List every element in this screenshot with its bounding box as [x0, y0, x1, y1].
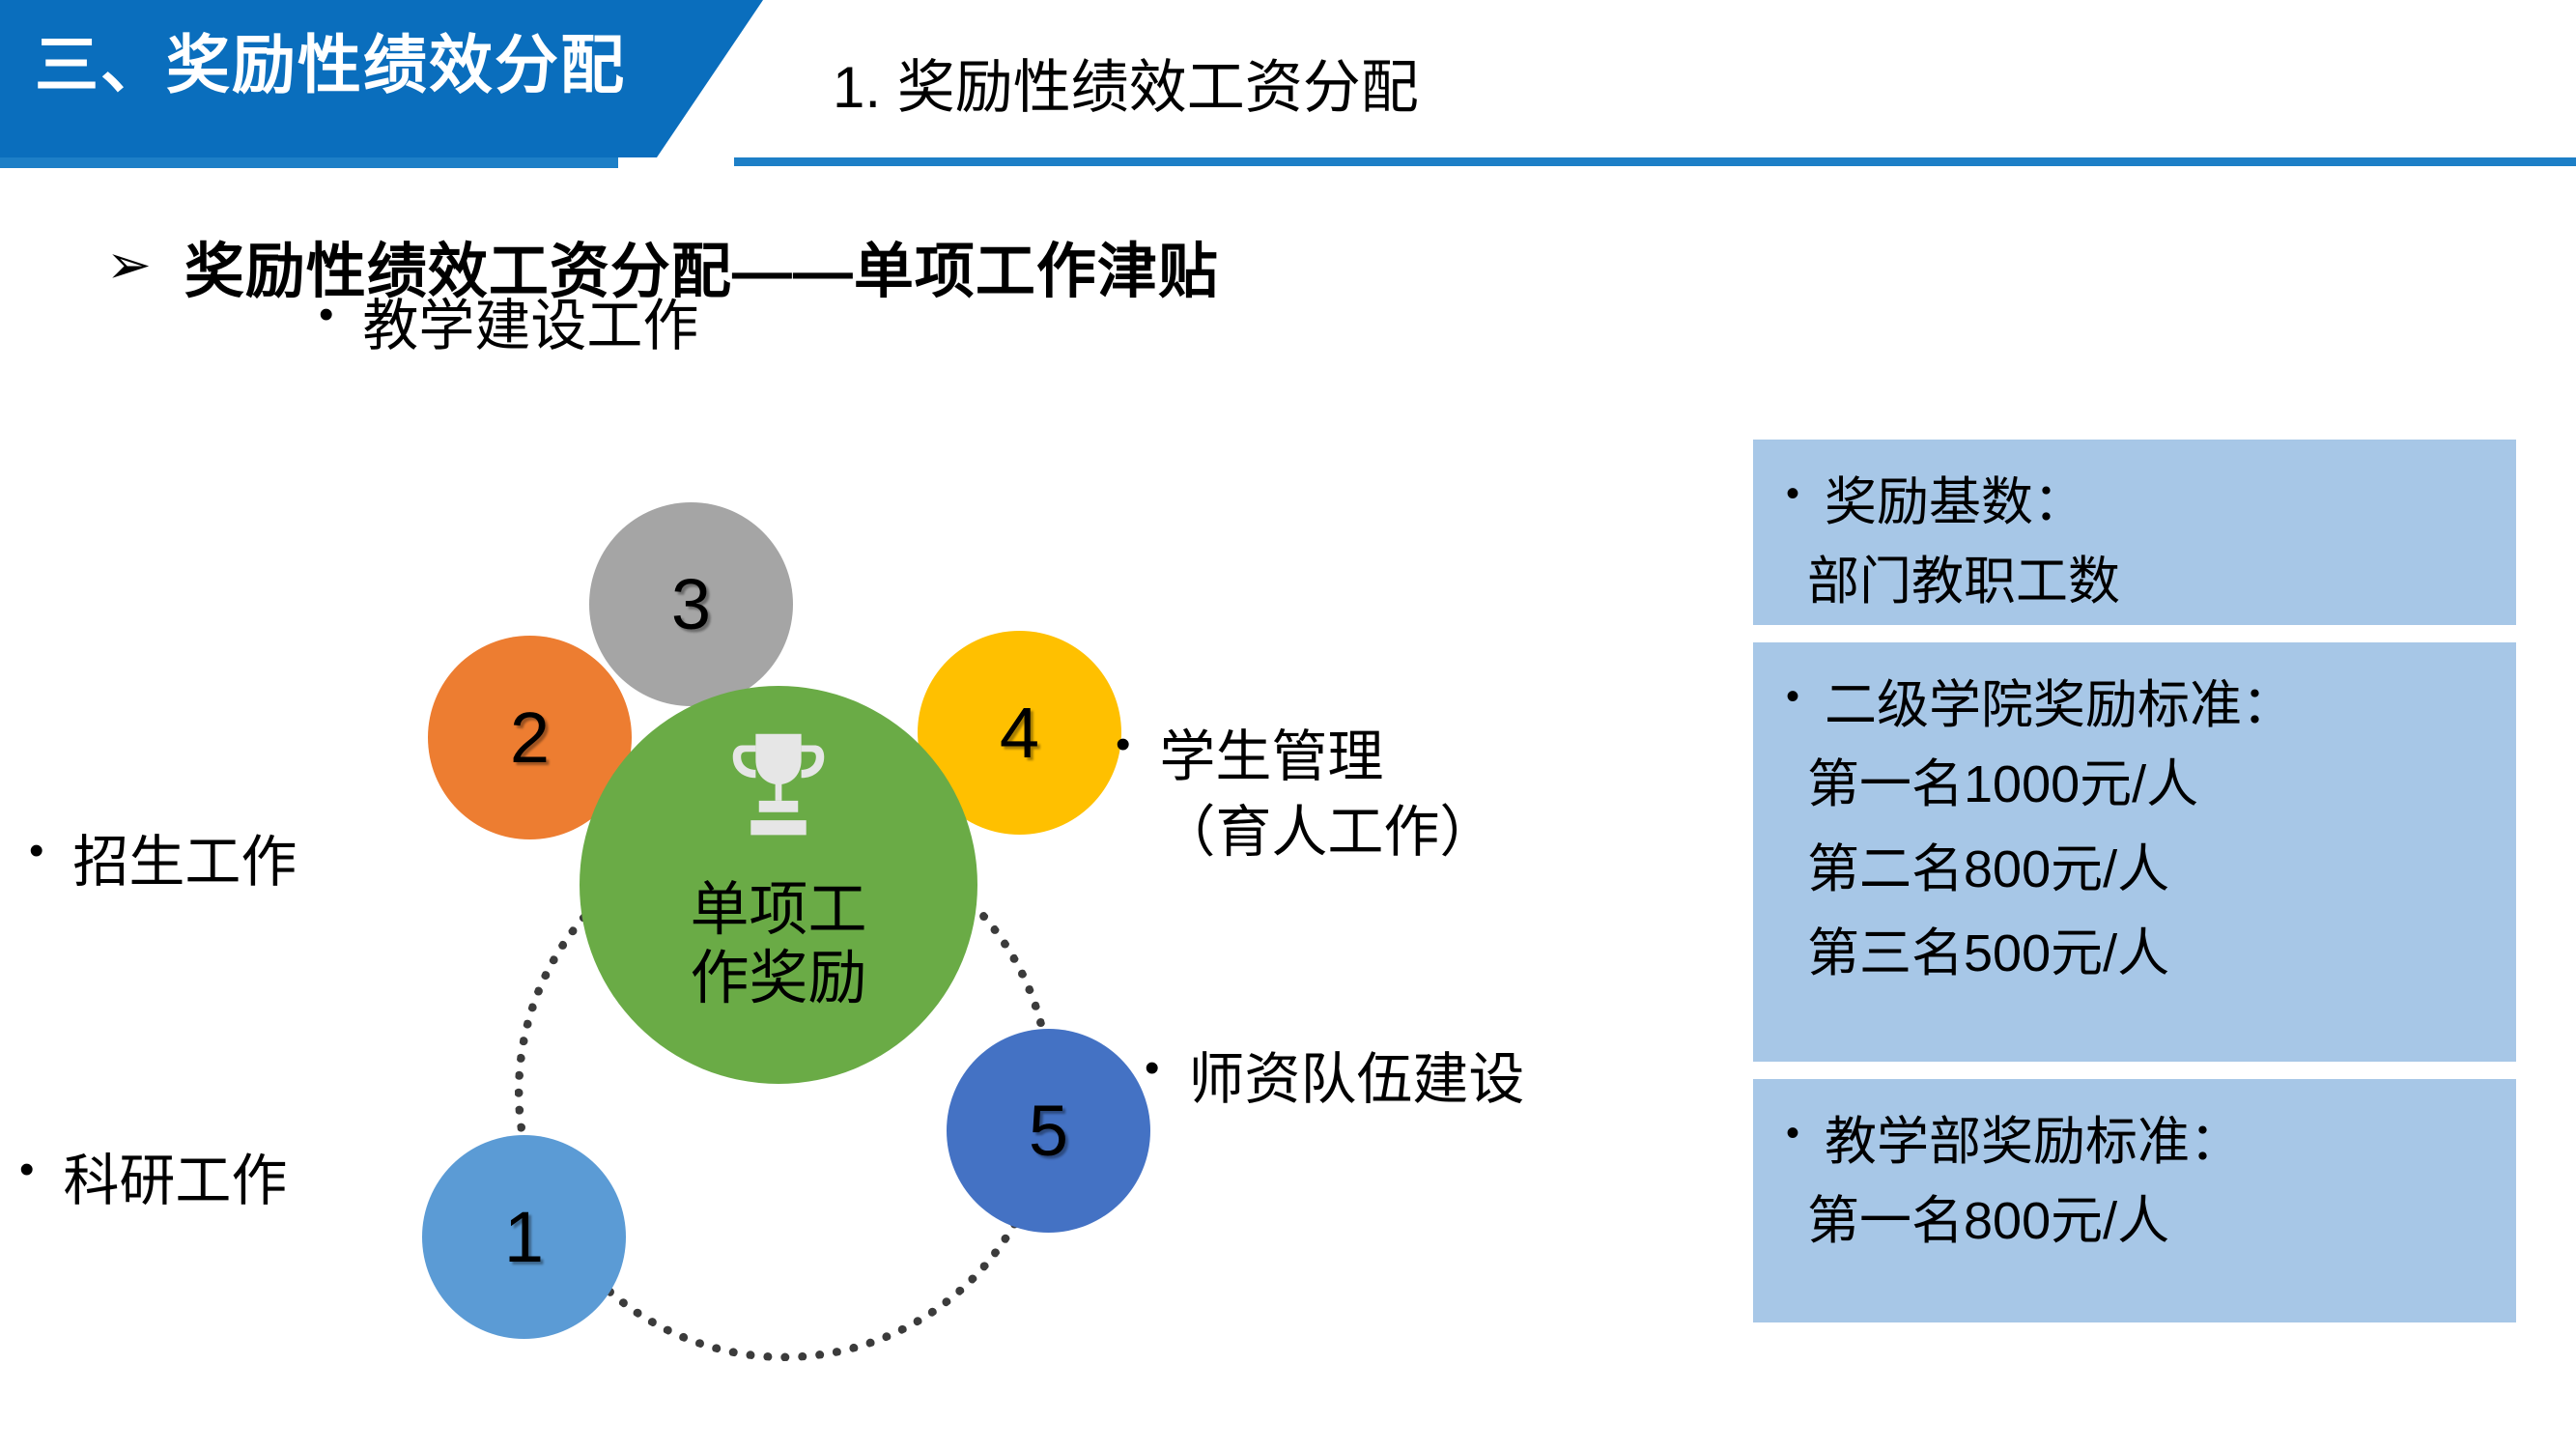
node-number: 2	[510, 697, 550, 779]
node-number: 3	[671, 563, 711, 645]
box-line: 第一名800元/人	[1753, 1180, 2516, 1264]
bullet-icon: •	[1116, 720, 1130, 770]
bullet-icon: •	[1786, 668, 1799, 725]
node-number: 5	[1029, 1090, 1068, 1172]
arrow-bullet-icon: ➢	[106, 239, 152, 293]
single-item-bonus-diagram: 3 2 4 1 5 单项工 作奖励 • 教学建设工作	[0, 386, 1729, 1352]
center-label-line1: 单项工	[580, 875, 977, 944]
diagram-label-student-management: • 学生管理 （育人工作）	[1116, 720, 1495, 871]
box-line: 第三名500元/人	[1753, 912, 2516, 996]
label-text-line2: （育人工作）	[1159, 795, 1495, 870]
college-reward-standard-box: • 二级学院奖励标准： 第一名1000元/人 第二名800元/人 第三名500元…	[1753, 642, 2516, 1062]
page-header: 三、奖励性绩效分配 1. 奖励性绩效工资分配	[0, 0, 2576, 184]
trophy-icon	[726, 730, 831, 839]
box-heading-row: • 二级学院奖励标准：	[1753, 668, 2516, 743]
box-heading: 二级学院奖励标准：	[1825, 668, 2294, 743]
box-heading: 教学部奖励标准：	[1825, 1104, 2242, 1180]
node-number: 4	[1000, 692, 1039, 774]
label-text: 招生工作	[72, 826, 297, 898]
bullet-icon: •	[19, 1145, 34, 1195]
center-node-label: 单项工 作奖励	[580, 875, 977, 1012]
department-reward-standard-box: • 教学部奖励标准： 第一名800元/人	[1753, 1079, 2516, 1322]
center-label-line2: 作奖励	[580, 944, 977, 1012]
label-text-block: 学生管理 （育人工作）	[1159, 720, 1495, 871]
diagram-center-node[interactable]: 单项工 作奖励	[580, 686, 977, 1084]
diagram-label-research: • 科研工作	[19, 1145, 287, 1217]
diagram-node-1[interactable]: 1	[422, 1135, 626, 1339]
box-line: 第二名800元/人	[1753, 828, 2516, 912]
page-title: 1. 奖励性绩效工资分配	[833, 41, 1419, 125]
diagram-label-teaching-construction: • 教学建设工作	[319, 290, 698, 362]
label-text-line1: 学生管理	[1159, 720, 1495, 795]
section-label: 三、奖励性绩效分配	[35, 14, 711, 106]
box-line: 第一名1000元/人	[1753, 743, 2516, 827]
box-heading-row: • 奖励基数：	[1753, 465, 2516, 540]
bullet-icon: •	[319, 290, 333, 340]
header-underline-right	[734, 157, 2576, 166]
label-text: 师资队伍建设	[1188, 1043, 1524, 1116]
diagram-node-5[interactable]: 5	[947, 1029, 1150, 1233]
label-text: 科研工作	[63, 1145, 287, 1217]
diagram-node-3[interactable]: 3	[589, 502, 793, 706]
label-text: 教学建设工作	[362, 290, 698, 362]
reward-standards-panel: • 奖励基数： 部门教职工数 • 二级学院奖励标准： 第一名1000元/人 第二…	[1753, 440, 2516, 1340]
bullet-icon: •	[1786, 1104, 1799, 1162]
node-number: 1	[504, 1196, 544, 1278]
diagram-label-faculty-building: • 师资队伍建设	[1145, 1043, 1524, 1116]
diagram-label-enrollment: • 招生工作	[29, 826, 297, 898]
header-underline-left	[0, 157, 618, 168]
bullet-icon: •	[1786, 465, 1799, 523]
bullet-icon: •	[29, 826, 43, 876]
box-line: 部门教职工数	[1753, 540, 2516, 624]
box-heading-row: • 教学部奖励标准：	[1753, 1104, 2516, 1180]
bullet-icon: •	[1145, 1043, 1159, 1094]
box-heading: 奖励基数：	[1825, 465, 2085, 540]
reward-base-box: • 奖励基数： 部门教职工数	[1753, 440, 2516, 625]
